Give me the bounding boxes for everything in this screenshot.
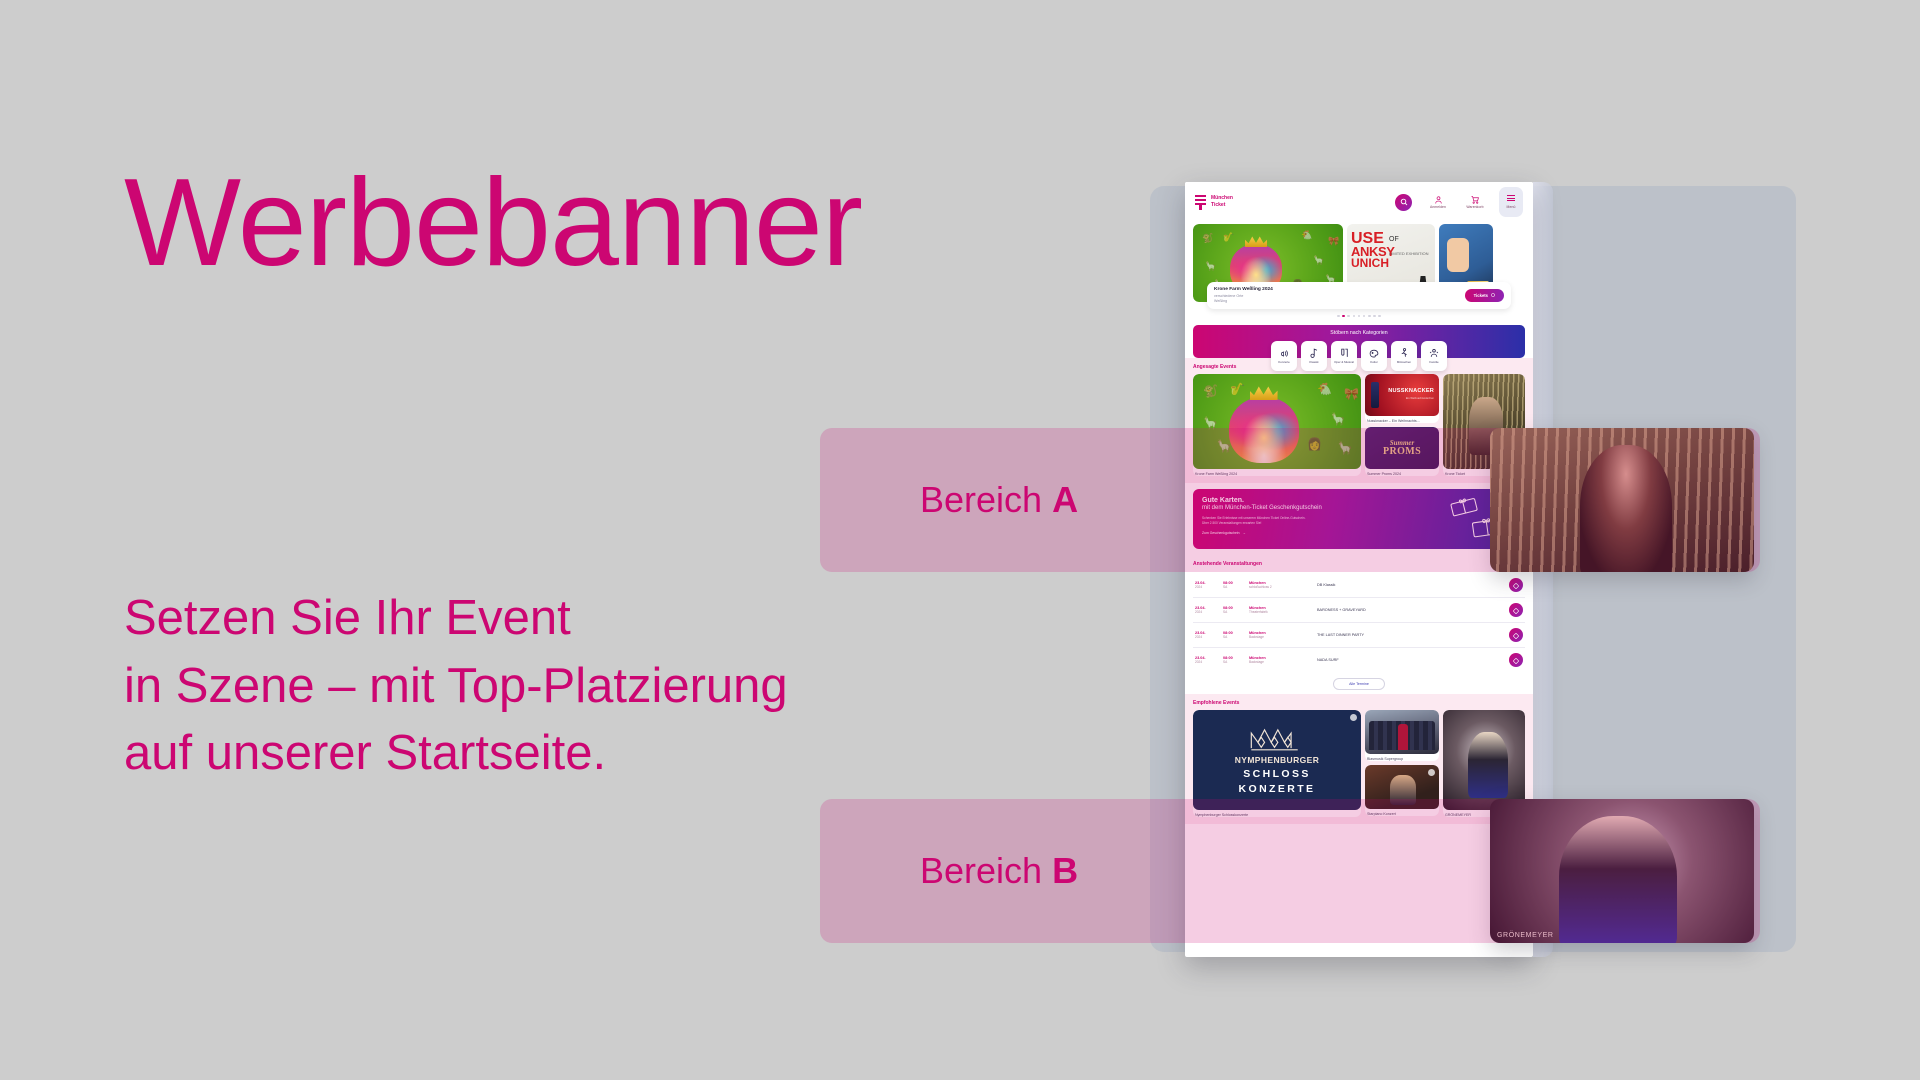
row-venue: Backstage bbox=[1249, 660, 1311, 664]
row-date: 23.04. 2024 bbox=[1195, 581, 1217, 589]
subtitle-line-3: auf unserer Startseite. bbox=[124, 720, 788, 788]
category-tile-kultur[interactable]: Kultur bbox=[1361, 341, 1387, 371]
hamburger-icon bbox=[1507, 195, 1515, 202]
table-row[interactable]: 23.04. 2024 08:00 SA München Backstage N… bbox=[1193, 648, 1525, 672]
poster-canvas: Werbebanner Setzen Sie Ihr Event in Szen… bbox=[0, 0, 1920, 1080]
row-weekday: SA bbox=[1223, 660, 1243, 664]
subtitle-block: Setzen Sie Ihr Event in Szene – mit Top-… bbox=[124, 585, 788, 788]
all-dates-button[interactable]: Alle Termine bbox=[1333, 678, 1385, 690]
ticket-icon bbox=[1513, 651, 1519, 669]
row-venue: Backstage bbox=[1249, 635, 1311, 639]
user-icon bbox=[1435, 195, 1442, 204]
row-event-title: THE LAST DINNER PARTY bbox=[1317, 633, 1503, 637]
row-venue: schloßschloss 2 bbox=[1249, 585, 1311, 589]
ticket-icon bbox=[1513, 626, 1519, 644]
category-tile-oper-musical[interactable]: Oper & Musical bbox=[1331, 341, 1357, 371]
table-row[interactable]: 23.04. 2024 08:00 SA München Theaterfabr… bbox=[1193, 598, 1525, 623]
row-event-title: NADA SURF bbox=[1317, 658, 1503, 662]
logo-line-2: Ticket bbox=[1211, 202, 1233, 209]
carousel-dot[interactable] bbox=[1347, 315, 1350, 318]
carousel-dot[interactable] bbox=[1373, 315, 1376, 318]
bereich-b-label: Bereich B bbox=[920, 850, 1078, 892]
categories-tiles: Konzerte Klassik bbox=[1199, 341, 1519, 371]
row-time: 08:00 SA bbox=[1223, 656, 1243, 664]
nutcracker-poster-subtitle: Ein Weihnachtsmärchen bbox=[1406, 397, 1434, 400]
ticket-icon bbox=[1513, 576, 1519, 594]
carousel-dot[interactable] bbox=[1363, 315, 1366, 318]
row-date-year: 2024 bbox=[1195, 660, 1217, 664]
categories-title: Stöbern nach Kategorien bbox=[1199, 330, 1519, 336]
search-icon bbox=[1400, 193, 1408, 211]
banksy-title-of: OF bbox=[1389, 236, 1399, 243]
category-label-oper-musical: Oper & Musical bbox=[1334, 361, 1354, 364]
logo-mark-icon bbox=[1195, 195, 1208, 210]
header-nav: Anmelden Warenkorb Menü bbox=[1395, 187, 1523, 217]
logo-text: München Ticket bbox=[1211, 195, 1233, 209]
bereich-b-overlay: Bereich B bbox=[820, 799, 1760, 943]
carousel-dot[interactable] bbox=[1368, 315, 1371, 318]
recommended-heading: Empfohlene Events bbox=[1193, 700, 1525, 706]
category-label-konzerte: Konzerte bbox=[1278, 361, 1290, 364]
carousel-dot[interactable] bbox=[1378, 315, 1381, 318]
nav-label-warenkorb: Warenkorb bbox=[1466, 205, 1483, 209]
category-label-mitmachen: Mitmachen bbox=[1397, 361, 1411, 364]
subtitle-line-1: Setzen Sie Ihr Event bbox=[124, 585, 788, 653]
carousel-dot[interactable] bbox=[1353, 315, 1356, 318]
row-venue: Theaterfabrik bbox=[1249, 610, 1311, 614]
row-tickets-button[interactable] bbox=[1509, 628, 1523, 642]
hero-tickets-label: Tickets bbox=[1474, 293, 1488, 298]
nav-item-menu[interactable]: Menü bbox=[1499, 187, 1523, 217]
carousel-dot[interactable] bbox=[1358, 315, 1361, 318]
nav-label-menu: Menü bbox=[1507, 205, 1516, 209]
search-button[interactable] bbox=[1395, 194, 1412, 211]
nav-item-anmelden[interactable]: Anmelden bbox=[1425, 195, 1451, 209]
brass-band-photo bbox=[1365, 710, 1439, 754]
carousel-dots[interactable] bbox=[1193, 315, 1525, 318]
category-tile-familie[interactable]: Familie bbox=[1421, 341, 1447, 371]
trending-card-nussknacker[interactable]: NUSSKNACKER Ein Weihnachtsmärchen Nusskn… bbox=[1365, 374, 1439, 423]
row-date: 23.04. 2024 bbox=[1195, 606, 1217, 614]
category-tile-klassik[interactable]: Klassik bbox=[1301, 341, 1327, 371]
hero-carousel[interactable]: 🐒 🎷 🐔 🦙 🦙 🦙 🦙 👩 🎀 USE O bbox=[1185, 222, 1533, 317]
bereich-a-letter: A bbox=[1052, 479, 1078, 520]
palette-icon bbox=[1369, 348, 1379, 359]
banksy-title-3: UNICH bbox=[1351, 258, 1389, 269]
bereich-b-prefix: Bereich bbox=[920, 850, 1052, 891]
speaker-icon bbox=[1280, 348, 1289, 359]
row-date: 23.04. 2024 bbox=[1195, 656, 1217, 664]
schlosskonzerte-line-2: SCHLOSS bbox=[1243, 768, 1311, 780]
category-label-kultur: Kultur bbox=[1370, 361, 1378, 364]
category-label-familie: Familie bbox=[1429, 361, 1438, 364]
row-time: 08:00 SA bbox=[1223, 631, 1243, 639]
schlosskonzerte-poster: NYMPHENBURGER SCHLOSS KONZERTE bbox=[1193, 710, 1361, 810]
running-icon bbox=[1400, 348, 1408, 359]
category-tile-konzerte[interactable]: Konzerte bbox=[1271, 341, 1297, 371]
nutcracker-soldier-figure bbox=[1371, 382, 1379, 408]
page-title: Werbebanner bbox=[124, 160, 862, 286]
bereich-a-overlay: Bereich A bbox=[820, 428, 1760, 572]
ticket-icon bbox=[1491, 293, 1495, 298]
categories-band: Stöbern nach Kategorien Konzerte bbox=[1193, 325, 1525, 358]
note-icon bbox=[1310, 348, 1318, 359]
row-event-title: BARONESS + GRAVEYARD bbox=[1317, 608, 1503, 612]
row-date-year: 2024 bbox=[1195, 585, 1217, 589]
recommended-small-caption-1: Blasmusik Supergroup bbox=[1365, 754, 1439, 761]
row-date-year: 2024 bbox=[1195, 610, 1217, 614]
hero-caption-title: Krone Farm Weßling 2024 bbox=[1214, 287, 1465, 292]
row-place: München Backstage bbox=[1249, 656, 1311, 664]
row-weekday: SA bbox=[1223, 610, 1243, 614]
table-row[interactable]: 23.04. 2024 08:00 SA München schloßschlo… bbox=[1193, 573, 1525, 598]
row-time: 08:00 SA bbox=[1223, 606, 1243, 614]
red-dress-figure bbox=[1398, 724, 1408, 750]
muenchen-ticket-logo[interactable]: München Ticket bbox=[1195, 195, 1233, 210]
ticket-icon bbox=[1513, 601, 1519, 619]
row-place: München Backstage bbox=[1249, 631, 1311, 639]
hero-caption-sub-2: Weßling bbox=[1214, 299, 1465, 304]
nav-item-warenkorb[interactable]: Warenkorb bbox=[1462, 195, 1488, 209]
row-tickets-button[interactable] bbox=[1509, 653, 1523, 667]
hero-person-photo bbox=[1447, 238, 1469, 272]
category-label-klassik: Klassik bbox=[1309, 361, 1318, 364]
site-header: München Ticket bbox=[1185, 182, 1533, 222]
categories-section: Stöbern nach Kategorien Konzerte bbox=[1185, 317, 1533, 358]
row-weekday: SA bbox=[1223, 635, 1243, 639]
row-event-title: DB Klassik bbox=[1317, 583, 1503, 587]
row-weekday: SA bbox=[1223, 585, 1243, 589]
family-icon bbox=[1429, 348, 1439, 359]
trending-small-caption-1: Nussknacker – Ein Weihnachts… bbox=[1365, 416, 1439, 423]
all-dates-label: Alle Termine bbox=[1349, 682, 1369, 686]
bookmark-icon[interactable] bbox=[1350, 714, 1357, 721]
hero-tickets-button[interactable]: Tickets bbox=[1465, 289, 1504, 302]
theatre-icon bbox=[1340, 348, 1349, 359]
table-row[interactable]: 23.04. 2024 08:00 SA München Backstage T… bbox=[1193, 623, 1525, 648]
recommended-card-blasmusik[interactable]: Blasmusik Supergroup bbox=[1365, 710, 1439, 761]
nutcracker-poster-title: NUSSKNACKER bbox=[1388, 388, 1434, 394]
cart-icon bbox=[1471, 195, 1479, 204]
upcoming-rows: 23.04. 2024 08:00 SA München schloßschlo… bbox=[1193, 573, 1525, 672]
nutcracker-poster: NUSSKNACKER Ein Weihnachtsmärchen bbox=[1365, 374, 1439, 416]
row-place: München Theaterfabrik bbox=[1249, 606, 1311, 614]
groenemeyer-figure bbox=[1468, 732, 1508, 798]
bereich-a-label: Bereich A bbox=[920, 479, 1078, 521]
bereich-b-letter: B bbox=[1052, 850, 1078, 891]
carousel-dot[interactable] bbox=[1337, 315, 1340, 318]
hero-caption-card: Krone Farm Weßling 2024 verschiedene Ort… bbox=[1207, 282, 1511, 309]
row-date: 23.04. 2024 bbox=[1195, 631, 1217, 639]
carousel-dot-active[interactable] bbox=[1342, 315, 1345, 318]
bookmark-icon[interactable] bbox=[1428, 769, 1435, 776]
nav-label-anmelden: Anmelden bbox=[1430, 205, 1446, 209]
upcoming-events-section: Anstehende Veranstaltungen FILTER 23.04.… bbox=[1185, 551, 1533, 694]
subtitle-line-2: in Szene – mit Top-Platzierung bbox=[124, 653, 788, 721]
row-tickets-button[interactable] bbox=[1509, 578, 1523, 592]
row-date-year: 2024 bbox=[1195, 635, 1217, 639]
schlosskonzerte-line-3: KONZERTE bbox=[1239, 783, 1316, 795]
bereich-a-prefix: Bereich bbox=[920, 479, 1052, 520]
row-time: 08:00 SA bbox=[1223, 581, 1243, 589]
category-tile-mitmachen[interactable]: Mitmachen bbox=[1391, 341, 1417, 371]
logo-line-1: München bbox=[1211, 195, 1233, 202]
crown-icon bbox=[1248, 726, 1306, 752]
banksy-subtitle: LIMITED EXHIBITION bbox=[1389, 251, 1429, 256]
schlosskonzerte-line-1: NYMPHENBURGER bbox=[1235, 755, 1320, 765]
groenemeyer-photo bbox=[1443, 710, 1525, 810]
row-place: München schloßschloss 2 bbox=[1249, 581, 1311, 589]
row-tickets-button[interactable] bbox=[1509, 603, 1523, 617]
